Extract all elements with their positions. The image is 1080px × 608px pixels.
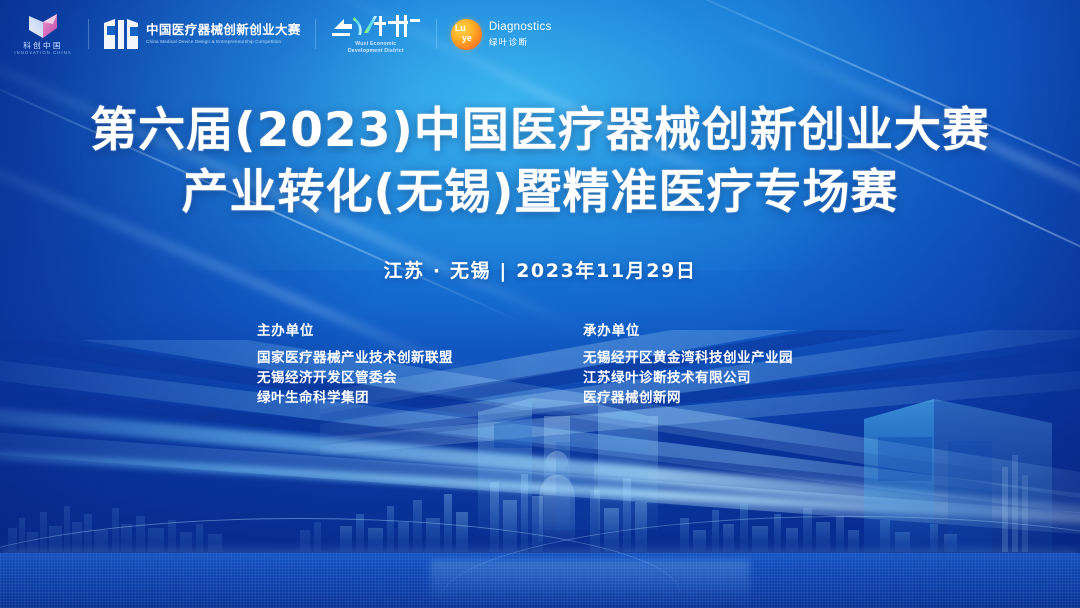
cohost-organizer-heading: 承办单位 bbox=[583, 319, 823, 339]
host-organizer-heading: 主办单位 bbox=[257, 319, 497, 339]
poster-subtitle-location-date: 江苏 · 无锡 | 2023年11月29日 bbox=[0, 256, 1080, 283]
host-organizer-item: 国家医疗器械产业技术创新联盟 bbox=[257, 348, 497, 368]
poster-title: 第六届(2023)中国医疗器械创新创业大赛 产业转化(无锡)暨精准医疗专场赛 bbox=[0, 100, 1080, 224]
organizer-section: 主办单位 国家医疗器械产业技术创新联盟 无锡经济开发区管委会 绿叶生命科学集团 … bbox=[0, 319, 1080, 408]
title-line-1: 第六届(2023)中国医疗器械创新创业大赛 bbox=[0, 100, 1080, 162]
poster-content: 第六届(2023)中国医疗器械创新创业大赛 产业转化(无锡)暨精准医疗专场赛 江… bbox=[0, 0, 1080, 408]
cohost-organizer-item: 江苏绿叶诊断技术有限公司 bbox=[583, 368, 823, 388]
cohost-organizer-column: 承办单位 无锡经开区黄金湾科技创业产业园 江苏绿叶诊断技术有限公司 医疗器械创新… bbox=[583, 319, 823, 408]
host-organizer-item: 绿叶生命科学集团 bbox=[257, 388, 497, 408]
cohost-organizer-item: 无锡经开区黄金湾科技创业产业园 bbox=[583, 348, 823, 368]
title-line-2: 产业转化(无锡)暨精准医疗专场赛 bbox=[0, 162, 1080, 224]
poster-canvas: 科创中国 INNOVATION CHINA 中国医疗器械创新创业大赛 China… bbox=[0, 0, 1080, 608]
host-organizer-item: 无锡经济开发区管委会 bbox=[257, 368, 497, 388]
host-organizer-column: 主办单位 国家医疗器械产业技术创新联盟 无锡经济开发区管委会 绿叶生命科学集团 bbox=[257, 319, 497, 408]
water-reflection-area bbox=[0, 553, 1080, 608]
cohost-organizer-item: 医疗器械创新网 bbox=[583, 388, 823, 408]
person-silhouette bbox=[536, 450, 578, 542]
